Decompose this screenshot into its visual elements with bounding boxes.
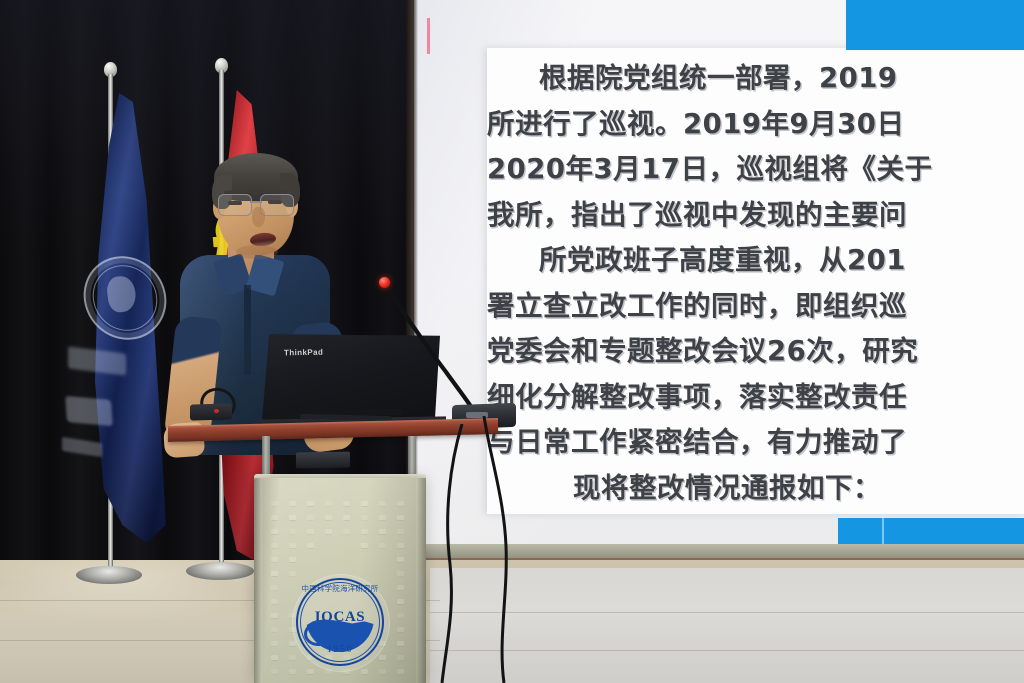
flagpole-base [186, 562, 254, 580]
slide-line-5: 所党政班子高度重视，从201 [487, 238, 1024, 284]
slide-accent-band-top [846, 0, 1024, 50]
podium-texture-dot [289, 557, 296, 562]
podium-texture-dot [361, 501, 368, 506]
podium-texture-dot [397, 571, 404, 576]
microphone-led-icon [379, 277, 390, 288]
podium-texture-dot [271, 529, 278, 534]
podium-texture-dot [289, 571, 296, 576]
podium-texture-dot [361, 515, 368, 520]
podium-texture-dot [289, 543, 296, 548]
podium-texture-dot [397, 529, 404, 534]
podium-texture-dot [289, 529, 296, 534]
podium-texture-dot [271, 613, 278, 618]
podium-texture-dot [307, 515, 314, 520]
podium-texture-dot [397, 669, 404, 674]
podium-texture-dot [271, 599, 278, 604]
slide-line-2: 所进行了巡视。2019年9月30日 [487, 102, 1024, 148]
podium-texture-dot [343, 529, 350, 534]
slide-line-10: 现将整改情况通报如下： [487, 466, 1024, 512]
podium-texture-dot [397, 585, 404, 590]
podium-texture-dot [343, 501, 350, 506]
slide-accent-band-bottom [838, 518, 1024, 545]
podium-texture-dot [379, 529, 386, 534]
podium-texture-dot [271, 557, 278, 562]
slide-line-4: 我所，指出了巡视中发现的主要问 [487, 193, 1024, 239]
podium-texture-dot [289, 515, 296, 520]
podium-texture-dot [289, 501, 296, 506]
podium-edge-left [254, 478, 262, 683]
flagpole-base [76, 566, 142, 584]
slide-line-9: 与日常工作紧密结合，有力推动了 [487, 420, 1024, 466]
podium-texture-dot [307, 669, 314, 674]
podium-texture-dot [343, 515, 350, 520]
podium-shelf-device [296, 452, 350, 469]
podium-texture-dot [361, 543, 368, 548]
podium-texture-dot [307, 543, 314, 548]
podium-texture-dot [397, 627, 404, 632]
emblem-wave-accent-icon [304, 622, 332, 646]
slide-line-6: 署立查立改工作的同时，即组织巡 [487, 284, 1024, 330]
podium-texture-dot [271, 585, 278, 590]
speaker-nose [252, 207, 265, 227]
podium-texture-dot [271, 669, 278, 674]
podium-texture-dot [397, 515, 404, 520]
microphone-button[interactable] [466, 412, 488, 418]
podium-texture-dot [307, 501, 314, 506]
photo-scene: 根据院党组统一部署，2019 所进行了巡视。2019年9月30日 2020年3月… [0, 0, 1024, 683]
podium-texture-dot [397, 655, 404, 660]
podium-texture-dot [397, 641, 404, 646]
iocas-emblem: 中国科学院海洋研究所 IOCAS 1950 [296, 578, 384, 666]
presentation-slide: 根据院党组统一部署，2019 所进行了巡视。2019年9月30日 2020年3月… [412, 0, 1024, 546]
podium-texture-dot [325, 529, 332, 534]
podium-texture-dot [325, 501, 332, 506]
podium-remote-device[interactable] [190, 403, 232, 420]
podium-texture-dot [271, 655, 278, 660]
slide-band-seam [882, 518, 884, 545]
podium-edge-right [416, 478, 426, 683]
device-led-icon [214, 409, 219, 413]
podium-texture-dot [379, 501, 386, 506]
podium-texture-dot [325, 515, 332, 520]
podium-texture-dot [271, 543, 278, 548]
podium-texture-dot [397, 557, 404, 562]
projection-screen-surface: 根据院党组统一部署，2019 所进行了巡视。2019年9月30日 2020年3月… [412, 0, 1024, 546]
glasses-lens-left [218, 194, 252, 216]
podium-texture-dot [361, 529, 368, 534]
podium-texture-dot [379, 543, 386, 548]
laptop-brand-label: ThinkPad [284, 348, 323, 358]
podium-texture-dot [271, 627, 278, 632]
laptop-brand-text: ThinkPad [284, 348, 323, 358]
podium-texture-dot [271, 571, 278, 576]
podium-texture-dot [289, 669, 296, 674]
podium-texture-dot [397, 599, 404, 604]
podium-texture-dot [397, 613, 404, 618]
floor-right-section [430, 568, 1024, 683]
slide-body-text: 根据院党组统一部署，2019 所进行了巡视。2019年9月30日 2020年3月… [487, 56, 1024, 511]
slide-line-8: 细化分解整改事项，落实整改责任 [487, 375, 1024, 421]
institutional-flag-text-blur [65, 396, 113, 426]
podium-texture-dot [397, 543, 404, 548]
screen-pink-mark [427, 18, 430, 54]
podium-texture-dot [379, 515, 386, 520]
emblem-chinese-name: 中国科学院海洋研究所 [296, 583, 384, 594]
floor-plank-line [430, 612, 1024, 613]
floor-plank-line [430, 650, 1024, 651]
slide-line-1: 根据院党组统一部署，2019 [487, 56, 1024, 102]
podium-texture-dot [379, 669, 386, 674]
podium-texture-dot [307, 529, 314, 534]
glasses-bridge [250, 201, 262, 203]
shirt-placket [244, 285, 251, 375]
podium-texture-dot [289, 655, 296, 660]
slide-line-7: 党委会和专题整改会议26次，研究 [487, 329, 1024, 375]
emblem-founding-year: 1950 [296, 644, 384, 655]
podium-texture-dot [271, 501, 278, 506]
slide-line-3: 2020年3月17日，巡视组将《关于 [487, 147, 1024, 193]
podium-texture-dot [361, 669, 368, 674]
podium-texture-dot [271, 641, 278, 646]
glasses-lens-right [260, 194, 294, 216]
podium-texture-dot [271, 515, 278, 520]
podium-texture-dot [397, 501, 404, 506]
speaker-chin-shadow [236, 245, 278, 259]
